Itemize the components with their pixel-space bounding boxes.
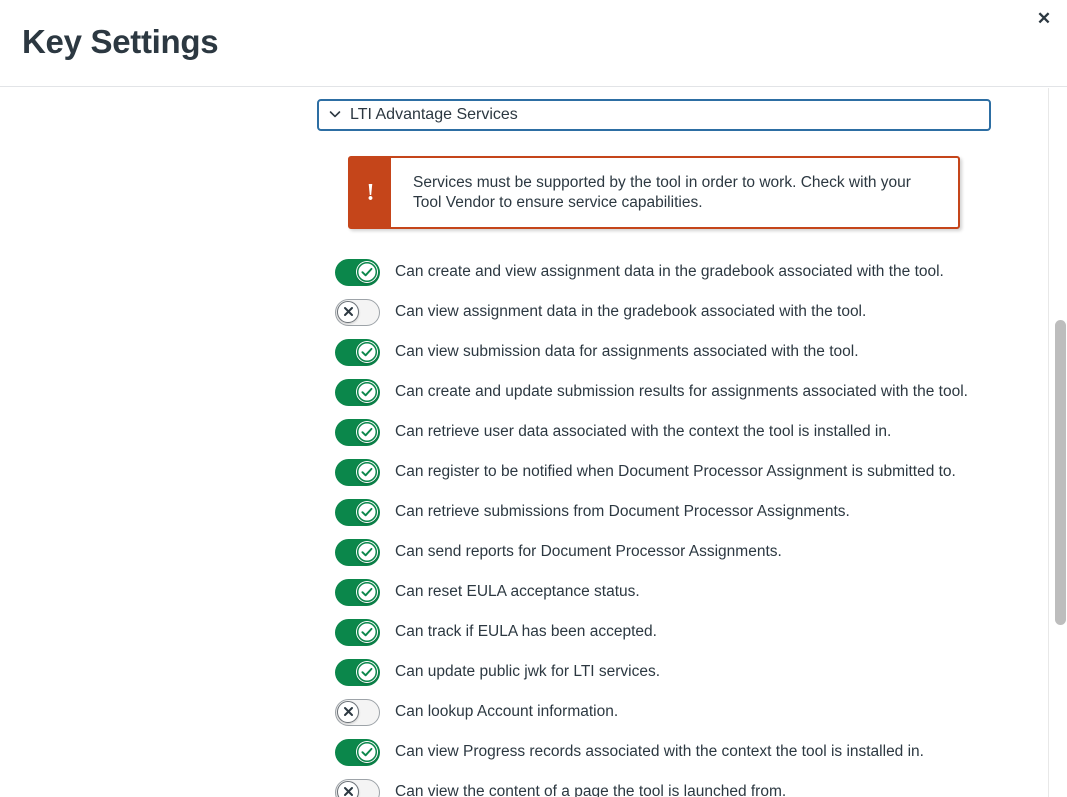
alert-message: Services must be supported by the tool i… (391, 158, 958, 227)
check-icon (356, 261, 378, 283)
close-button[interactable]: ✕ (1029, 4, 1059, 32)
check-icon (356, 501, 378, 523)
check-icon (356, 741, 378, 763)
service-label: Can retrieve submissions from Document P… (395, 502, 850, 522)
toggle-switch-on[interactable] (335, 379, 380, 406)
service-label: Can register to be notified when Documen… (395, 462, 956, 482)
toggle-switch-on[interactable] (335, 259, 380, 286)
toggle-switch-on[interactable] (335, 499, 380, 526)
service-label: Can view the content of a page the tool … (395, 782, 786, 797)
service-row[interactable]: Can create and view assignment data in t… (335, 252, 991, 292)
service-label: Can view assignment data in the gradeboo… (395, 302, 866, 322)
check-icon (356, 581, 378, 603)
toggle-switch-on[interactable] (335, 419, 380, 446)
x-icon (337, 301, 359, 323)
service-row[interactable]: Can retrieve user data associated with t… (335, 412, 991, 452)
check-icon (356, 661, 378, 683)
toggle-switch-on[interactable] (335, 579, 380, 606)
service-row[interactable]: Can view assignment data in the gradeboo… (335, 292, 991, 332)
check-icon (356, 541, 378, 563)
section-title: LTI Advantage Services (350, 105, 518, 125)
service-row[interactable]: Can track if EULA has been accepted. (335, 612, 991, 652)
service-label: Can update public jwk for LTI services. (395, 662, 660, 682)
service-row[interactable]: Can retrieve submissions from Document P… (335, 492, 991, 532)
modal-body: LTI Advantage Services ! Services must b… (0, 88, 1048, 797)
check-icon (356, 381, 378, 403)
toggle-switch-off[interactable] (335, 299, 380, 326)
toggle-switch-on[interactable] (335, 739, 380, 766)
service-label: Can track if EULA has been accepted. (395, 622, 657, 642)
service-row[interactable]: Can lookup Account information. (335, 692, 991, 732)
check-icon (356, 621, 378, 643)
service-label: Can send reports for Document Processor … (395, 542, 782, 562)
toggle-switch-on[interactable] (335, 539, 380, 566)
toggle-switch-on[interactable] (335, 459, 380, 486)
service-label: Can create and update submission results… (395, 382, 968, 402)
service-row[interactable]: Can update public jwk for LTI services. (335, 652, 991, 692)
toggle-switch-on[interactable] (335, 619, 380, 646)
service-row[interactable]: Can create and update submission results… (335, 372, 991, 412)
service-row[interactable]: Can view submission data for assignments… (335, 332, 991, 372)
check-icon (356, 461, 378, 483)
content-column: LTI Advantage Services ! Services must b… (317, 99, 991, 797)
key-settings-modal: Key Settings ✕ LTI Advantage Services ! (0, 0, 1067, 797)
service-label: Can create and view assignment data in t… (395, 262, 944, 282)
toggle-switch-off[interactable] (335, 779, 380, 797)
service-label: Can reset EULA acceptance status. (395, 582, 640, 602)
service-row[interactable]: Can view Progress records associated wit… (335, 732, 991, 772)
service-row[interactable]: Can reset EULA acceptance status. (335, 572, 991, 612)
service-label: Can retrieve user data associated with t… (395, 422, 891, 442)
check-icon (356, 341, 378, 363)
chevron-down-icon (328, 107, 342, 121)
service-label: Can lookup Account information. (395, 702, 618, 722)
services-list: Can create and view assignment data in t… (335, 252, 991, 797)
service-row[interactable]: Can view the content of a page the tool … (335, 772, 991, 797)
warning-exclamation-icon: ! (350, 158, 391, 227)
close-icon: ✕ (1037, 10, 1051, 27)
service-row[interactable]: Can register to be notified when Documen… (335, 452, 991, 492)
section-toggle-lti-advantage-services[interactable]: LTI Advantage Services (317, 99, 991, 131)
x-icon (337, 701, 359, 723)
toggle-switch-off[interactable] (335, 699, 380, 726)
toggle-switch-on[interactable] (335, 659, 380, 686)
vertical-scrollbar[interactable] (1048, 88, 1067, 797)
service-label: Can view submission data for assignments… (395, 342, 859, 362)
page-title: Key Settings (22, 20, 218, 64)
x-icon (337, 781, 359, 797)
service-row[interactable]: Can send reports for Document Processor … (335, 532, 991, 572)
modal-header: Key Settings ✕ (0, 0, 1067, 87)
scrollbar-thumb[interactable] (1055, 320, 1066, 625)
toggle-switch-on[interactable] (335, 339, 380, 366)
services-warning-alert: ! Services must be supported by the tool… (348, 156, 960, 229)
service-label: Can view Progress records associated wit… (395, 742, 924, 762)
check-icon (356, 421, 378, 443)
